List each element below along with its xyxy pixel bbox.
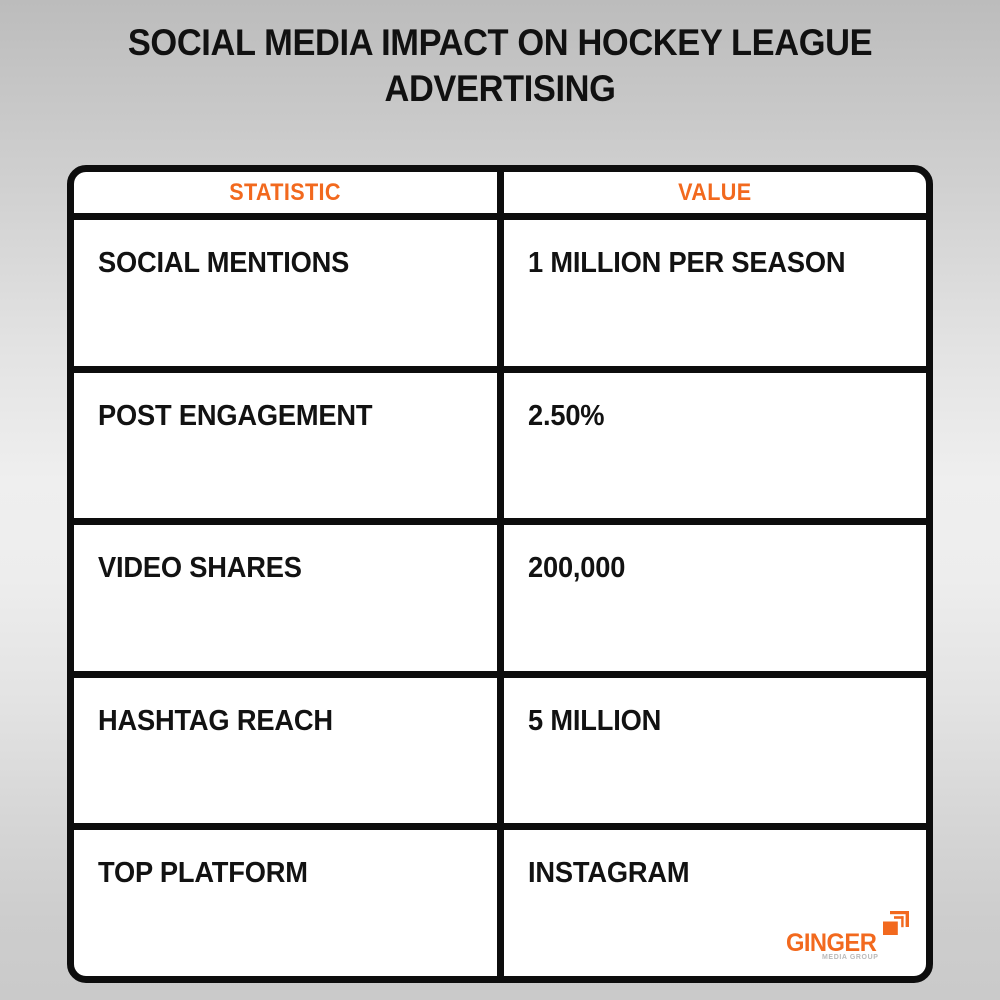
billboard-icon (882, 910, 910, 936)
table-body: STATISTIC VALUE SOCIAL MENTIONS 1 MILLIO… (74, 172, 926, 976)
table-cell-value: 200,000 (504, 525, 926, 671)
table-cell-value: 1 MILLION PER SEASON (504, 220, 926, 366)
table-header-cell-value: VALUE (504, 172, 926, 213)
value-label: 200,000 (528, 547, 880, 589)
logo-wordmark: GINGER (786, 930, 879, 956)
table-cell-statistic: POST ENGAGEMENT (74, 373, 504, 519)
statistic-label: VIDEO SHARES (98, 547, 451, 589)
table-header-row: STATISTIC VALUE (74, 172, 926, 220)
statistic-label: HASHTAG REACH (98, 700, 451, 742)
statistic-label: POST ENGAGEMENT (98, 395, 451, 437)
table-row: HASHTAG REACH 5 MILLION (74, 678, 926, 831)
value-label: INSTAGRAM (528, 852, 880, 894)
column-header-label-statistic: STATISTIC (230, 179, 342, 207)
table-header-cell-statistic: STATISTIC (74, 172, 504, 213)
table-row: VIDEO SHARES 200,000 (74, 525, 926, 678)
table-cell-statistic: HASHTAG REACH (74, 678, 504, 824)
table-row: POST ENGAGEMENT 2.50% (74, 373, 926, 526)
table-cell-statistic: SOCIAL MENTIONS (74, 220, 504, 366)
poster-page: SOCIAL MEDIA IMPACT ON HOCKEY LEAGUE ADV… (0, 0, 1000, 1000)
table-cell-statistic: VIDEO SHARES (74, 525, 504, 671)
value-label: 5 MILLION (528, 700, 880, 742)
table-row: SOCIAL MENTIONS 1 MILLION PER SEASON (74, 220, 926, 373)
statistic-label: SOCIAL MENTIONS (98, 242, 451, 284)
table-cell-value: 5 MILLION (504, 678, 926, 824)
value-label: 2.50% (528, 395, 880, 437)
column-header-label-value: VALUE (678, 179, 751, 207)
statistic-label: TOP PLATFORM (98, 852, 451, 894)
table-cell-value: 2.50% (504, 373, 926, 519)
ginger-media-group-logo: GINGER MEDIA GROUP (786, 910, 912, 968)
statistics-table: STATISTIC VALUE SOCIAL MENTIONS 1 MILLIO… (67, 165, 933, 983)
page-title: SOCIAL MEDIA IMPACT ON HOCKEY LEAGUE ADV… (100, 20, 900, 112)
value-label: 1 MILLION PER SEASON (528, 242, 880, 284)
table-cell-statistic: TOP PLATFORM (74, 830, 504, 976)
table-row: TOP PLATFORM INSTAGRAM (74, 830, 926, 976)
table-cell-value: INSTAGRAM GINGER MEDIA (504, 830, 926, 976)
logo-tagline: MEDIA GROUP (822, 954, 879, 962)
